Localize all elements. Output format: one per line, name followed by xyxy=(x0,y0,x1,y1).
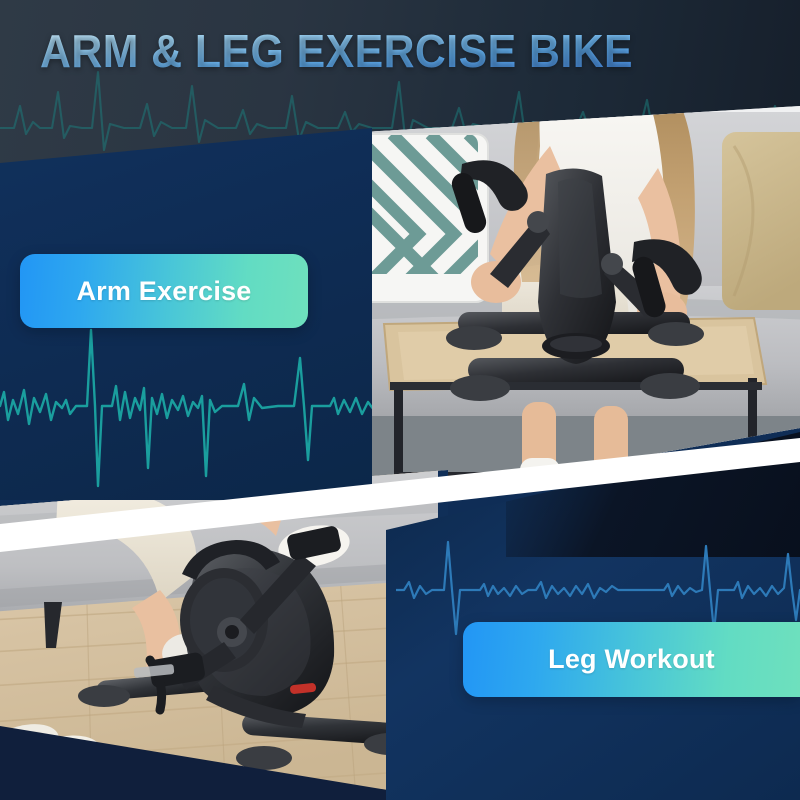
photo-leg-workout xyxy=(0,470,448,800)
left-heartbeat-icon xyxy=(0,328,372,488)
badge-arm-exercise[interactable]: Arm Exercise xyxy=(20,254,308,328)
badge-leg-workout[interactable]: Leg Workout xyxy=(463,622,800,697)
badge-leg-label: Leg Workout xyxy=(548,644,715,675)
photo-arm-exercise xyxy=(362,106,800,506)
product-poster: ARM & LEG EXERCISE BIKE xyxy=(0,0,800,800)
page-title: ARM & LEG EXERCISE BIKE xyxy=(40,26,633,76)
badge-arm-label: Arm Exercise xyxy=(76,276,251,307)
